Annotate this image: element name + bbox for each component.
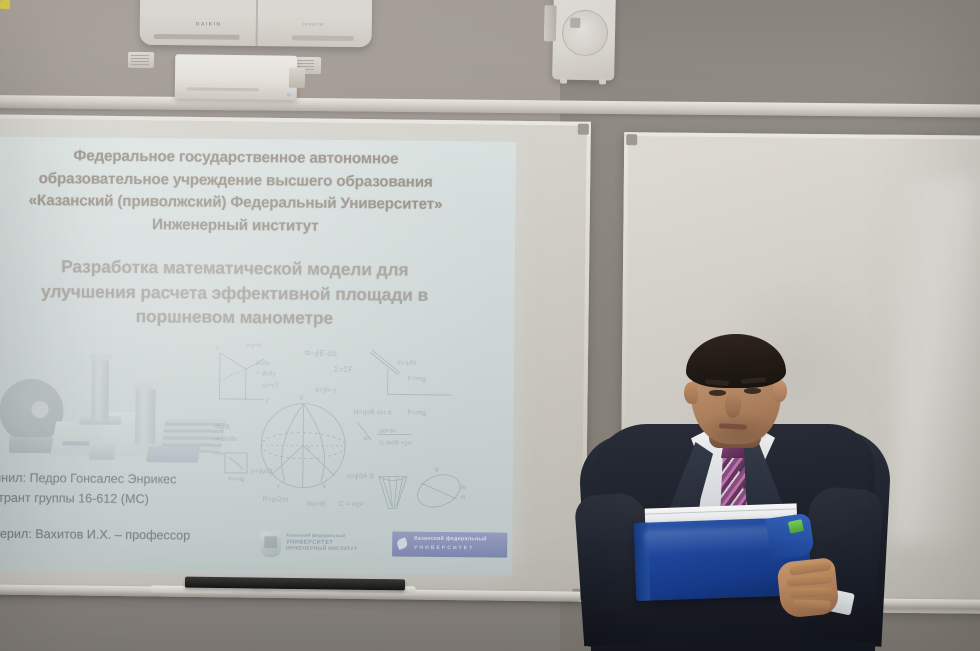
piston-column-cap bbox=[89, 354, 112, 361]
folder-flap bbox=[766, 513, 815, 561]
projector-lens-icon bbox=[289, 68, 305, 88]
presenter-person bbox=[583, 338, 883, 651]
projector-led-icon bbox=[287, 93, 291, 97]
svg-text:F=mg: F=mg bbox=[408, 376, 426, 383]
ac-seam bbox=[256, 0, 259, 46]
svg-text:m=μN: m=μN bbox=[397, 360, 416, 367]
piston-column-icon bbox=[91, 358, 109, 420]
svg-text:Σ=ΣF: Σ=ΣF bbox=[334, 365, 354, 374]
eye-left bbox=[709, 390, 726, 396]
svg-text:z: z bbox=[216, 345, 219, 351]
svg-text:+ ∂v∂y: + ∂v∂y bbox=[256, 370, 277, 377]
hair bbox=[686, 334, 786, 388]
svg-text:a=: a= bbox=[363, 435, 371, 442]
slide-title-line: поршневом манометре bbox=[0, 302, 506, 332]
svg-text:+ ∂v/∂x: + ∂v/∂x bbox=[215, 436, 237, 443]
banner-line1: Казанский федеральный bbox=[414, 536, 487, 543]
projected-slide: Федеральное государственное автономное о… bbox=[0, 136, 516, 575]
ear-left bbox=[684, 382, 698, 404]
svg-text:gd+av: gd+av bbox=[379, 428, 396, 434]
finger bbox=[789, 587, 833, 598]
ac-sub-label: inverter bbox=[303, 21, 326, 26]
svg-text:∂u∂x: ∂u∂x bbox=[256, 360, 271, 367]
speaker-foot bbox=[599, 78, 606, 84]
svg-text:N=qvB sin α: N=qvB sin α bbox=[353, 409, 391, 416]
ac-brand-label: DAIKIN bbox=[196, 21, 222, 27]
university-banner-logo: Казанский федеральный УНИВЕРСИТЕТ bbox=[392, 531, 507, 557]
classroom-presentation-photo: DAIKIN inverter Федерально bbox=[0, 0, 980, 651]
manometer-base bbox=[9, 437, 55, 453]
slide-group-line: Магистрант группы 16-612 (МС) bbox=[0, 488, 515, 513]
svg-text:cosα: cosα bbox=[213, 451, 224, 457]
svg-text:∂u/∂t: ∂u/∂t bbox=[215, 424, 230, 431]
air-conditioner-icon: DAIKIN inverter bbox=[140, 0, 373, 47]
board-corner bbox=[578, 124, 589, 135]
slide-header-line: «Казанский (приволжский) Федеральный Уни… bbox=[0, 189, 508, 217]
speaker-dustcap bbox=[570, 18, 580, 28]
bird-icon bbox=[396, 537, 409, 550]
piston-column-cap bbox=[133, 382, 159, 389]
crest-line3: ИНЖЕНЕРНЫЙ ИНСТИТУТ bbox=[286, 546, 384, 554]
folder-highlight bbox=[644, 526, 785, 557]
ear-right bbox=[773, 380, 787, 402]
slide-author-block: Выполнил: Педро Гонсалес Энрикес Магистр… bbox=[0, 468, 515, 512]
blue-instrument bbox=[146, 446, 200, 462]
banner-line2: УНИВЕРСИТЕТ bbox=[414, 545, 474, 552]
projector-mount-left bbox=[128, 52, 154, 68]
university-crest-icon bbox=[260, 531, 281, 557]
slide-header: Федеральное государственное автономное о… bbox=[0, 144, 508, 239]
speaker-foot bbox=[560, 78, 567, 84]
slide-reviewer-line: Проверил: Вахитов И.Х. – профессор bbox=[0, 526, 190, 542]
eye-right bbox=[744, 388, 761, 394]
svg-text:z: z bbox=[307, 446, 310, 452]
speaker-icon bbox=[552, 0, 616, 81]
projector-icon bbox=[175, 54, 298, 100]
slide-title: Разработка математической модели для улу… bbox=[0, 253, 507, 332]
small-fixture bbox=[89, 442, 115, 460]
board-corner bbox=[626, 134, 637, 145]
ac-vent-secondary bbox=[292, 35, 354, 41]
slide-title-line: улучшения расчета эффективной площади в bbox=[0, 278, 507, 308]
manometer-disc-hole bbox=[31, 401, 48, 418]
svg-text:ω=√T: ω=√T bbox=[262, 381, 280, 389]
svg-text:x-y=6: x-y=6 bbox=[246, 343, 262, 349]
svg-text:t1 dv/dt +gvt: t1 dv/dt +gvt bbox=[379, 440, 412, 446]
piston-column-icon bbox=[135, 386, 156, 444]
svg-text:y: y bbox=[266, 397, 269, 403]
svg-text:Φ=∮E·dS: Φ=∮E·dS bbox=[304, 349, 337, 358]
svg-text:P=mg: P=mg bbox=[407, 410, 426, 417]
svg-text:k=∮x·y: k=∮x·y bbox=[316, 386, 337, 394]
slide-logos: Казанский федеральный УНИВЕРСИТЕТ ИНЖЕНЕ… bbox=[260, 529, 506, 563]
projector-grille bbox=[187, 87, 259, 91]
ac-vent bbox=[154, 34, 240, 40]
finger bbox=[793, 599, 831, 609]
equipment-photo bbox=[0, 349, 226, 479]
speaker-bracket bbox=[544, 5, 557, 41]
svg-text:B: B bbox=[300, 396, 304, 402]
speaker-cone-icon bbox=[562, 10, 609, 57]
mount-slats-icon bbox=[131, 55, 149, 65]
board-glare bbox=[892, 176, 980, 543]
crest-text: Казанский федеральный УНИВЕРСИТЕТ ИНЖЕНЕ… bbox=[286, 532, 384, 553]
marker-yellow bbox=[0, 0, 10, 9]
